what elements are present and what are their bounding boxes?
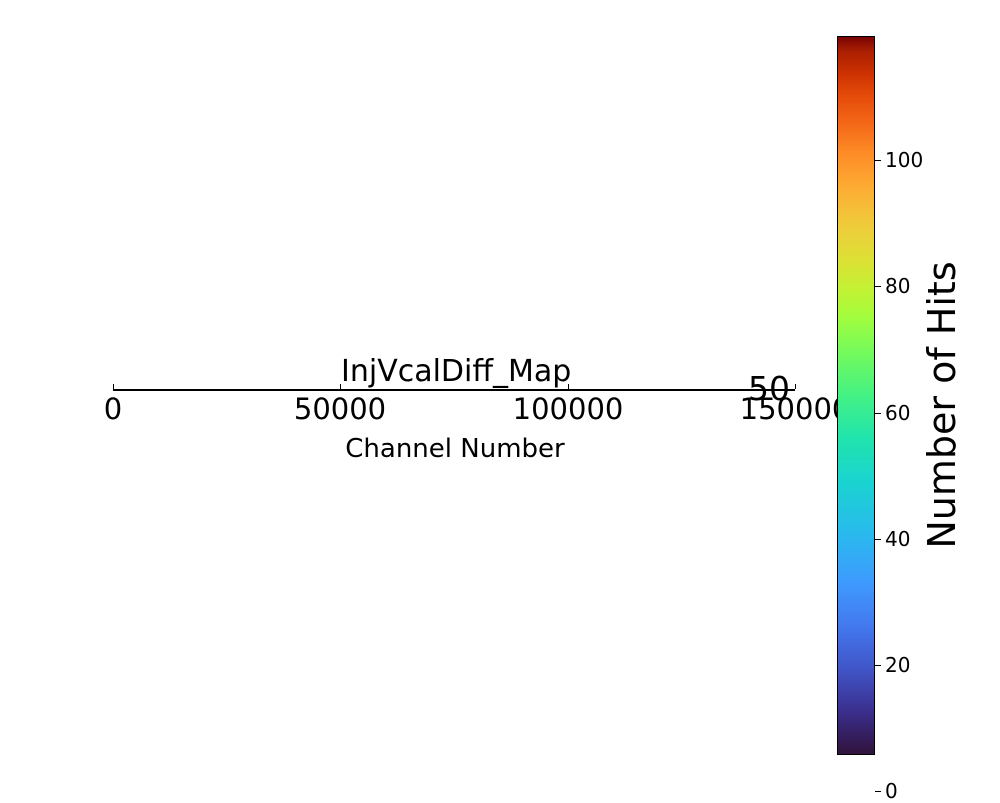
x-tick-label-50000: 50000 (294, 395, 386, 424)
y-tick-mark-50 (113, 384, 114, 389)
chart-title: InjVcalDiff_Map (341, 357, 571, 387)
colorbar-tick-mark-20 (875, 665, 881, 666)
x-tick-label-100000: 100000 (513, 395, 624, 424)
y-tick-label-50: 50 (748, 372, 790, 405)
colorbar-tick-label-100: 100 (885, 150, 923, 170)
colorbar-tick-mark-80 (875, 286, 881, 287)
colorbar-tick-mark-0 (875, 791, 881, 792)
colorbar-tick-label-40: 40 (885, 529, 910, 549)
figure-canvas: 0 50000 100000 150000 50 InjVcalDiff_Map… (0, 0, 1000, 800)
colorbar-tick-label-0: 0 (885, 781, 898, 801)
x-axis-spine (113, 389, 795, 391)
x-tick-mark-150000 (795, 384, 796, 389)
colorbar-tick-label-80: 80 (885, 276, 910, 296)
colorbar-tick-mark-100 (875, 160, 881, 161)
colorbar-axis-label: Number of Hits (923, 170, 961, 640)
colorbar[interactable]: 100 80 60 40 20 0 (837, 36, 875, 755)
colorbar-gradient (837, 36, 875, 755)
x-axis-label: Channel Number (0, 436, 910, 462)
colorbar-tick-mark-40 (875, 539, 881, 540)
x-tick-label-0: 0 (104, 395, 122, 424)
colorbar-tick-label-60: 60 (885, 403, 910, 423)
colorbar-tick-mark-60 (875, 413, 881, 414)
colorbar-tick-label-20: 20 (885, 655, 910, 675)
